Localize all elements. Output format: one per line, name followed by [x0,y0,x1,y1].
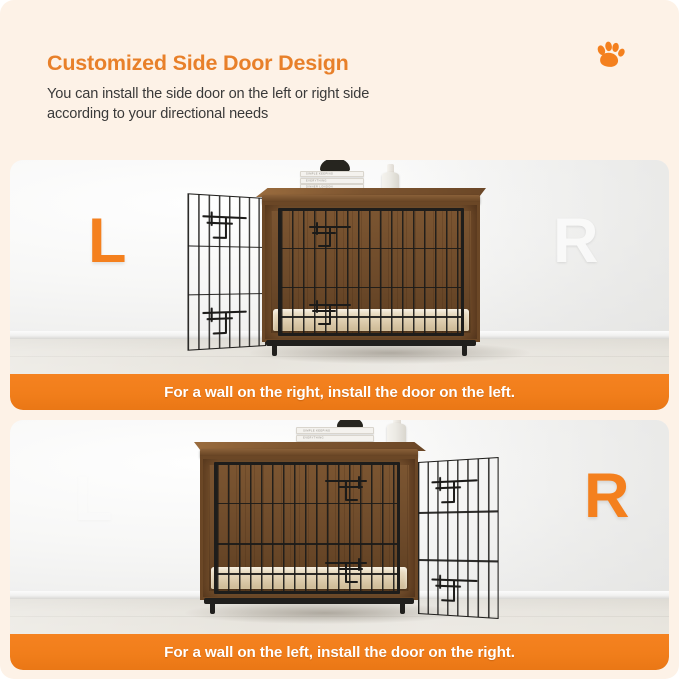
panel-left-door: SIMPLE KEEPING EVERYTHING DINNER LONDON [10,160,669,410]
book-4: SIMPLE KEEPING [296,427,374,434]
crate-latch-bottom-2 [325,557,371,583]
panel-right-door: SIMPLE KEEPING EVERYTHING DINNER LONDON [10,420,669,670]
crate-crossbar-1 [281,248,461,250]
room-scene-1: SIMPLE KEEPING EVERYTHING DINNER LONDON [10,160,669,410]
header: Customized Side Door Design You can inst… [0,0,679,150]
book-spine-text-4: SIMPLE KEEPING [303,429,330,432]
book-spine-text-2: EVERYTHING [306,179,327,182]
crate-leg-front-right-2 [400,604,405,614]
caption-text-2: For a wall on the left, install the door… [164,644,515,661]
crate-crossbar-3 [281,316,461,318]
subtitle-line-1: You can install the side door on the lef… [47,85,567,105]
letter-marker-left-2: L [74,468,112,531]
crate-leg-front-left-2 [210,604,215,614]
crate-latch-top-1 [309,221,355,247]
crate-leg-front-left-1 [272,346,277,356]
door-latch-bottom-2 [431,574,483,603]
book-2: EVERYTHING [300,178,364,184]
crate-wire-frame-2 [214,462,400,594]
door-latch-bottom-1 [202,306,252,335]
book-spine-text-1: SIMPLE KEEPING [306,173,333,176]
door-latch-top-2 [431,475,483,504]
book-1: SIMPLE KEEPING [300,171,364,177]
book-5: EVERYTHING [296,435,374,442]
page-title: Customized Side Door Design [47,51,349,76]
crate-latch-bottom-1 [309,299,355,325]
page-subtitle: You can install the side door on the lef… [47,85,567,124]
crate-crossbar-4 [217,503,397,505]
open-wire-door-2 [418,457,499,619]
crate-crossbar-2 [281,287,461,289]
open-wire-door-1 [188,193,266,351]
caption-banner-1: For a wall on the right, install the doo… [10,374,669,410]
subtitle-line-2: according to your directional needs [47,105,567,125]
dog-crate-2 [200,442,418,614]
letter-marker-left-1: L [88,210,126,273]
crate-crossbar-5 [217,543,397,545]
crate-wire-frame-1 [278,208,464,336]
caption-banner-2: For a wall on the left, install the door… [10,634,669,670]
letter-marker-right-1: R [553,210,599,273]
crate-plinth-1 [266,340,476,346]
crate-latch-top-2 [325,475,371,501]
infographic-page: Customized Side Door Design You can inst… [0,0,679,679]
crate-leg-front-right-1 [462,346,467,356]
crate-plinth-2 [204,598,414,604]
dog-crate-1 [262,188,480,356]
paw-print-icon [592,38,628,74]
book-spine-text-5: EVERYTHING [303,437,324,440]
crate-vertical-bars-1 [281,211,461,333]
room-scene-2: SIMPLE KEEPING EVERYTHING DINNER LONDON [10,420,669,670]
crate-wire-grid-1 [281,211,461,333]
caption-text-1: For a wall on the right, install the doo… [164,384,515,401]
door-latch-top-1 [202,211,252,240]
letter-marker-right-2: R [584,465,630,528]
